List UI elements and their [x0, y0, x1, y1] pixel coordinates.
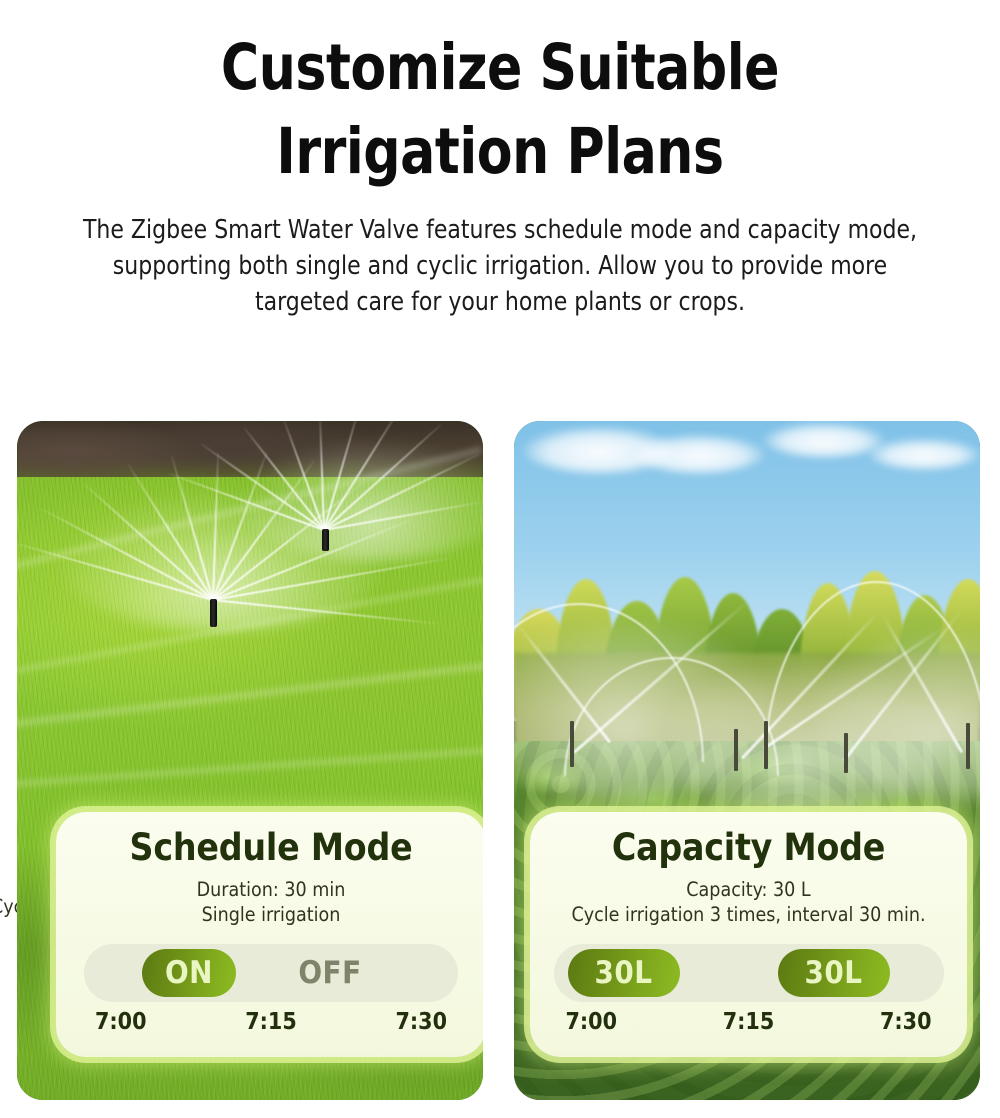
page-subtitle: The Zigbee Smart Water Valve features sc… — [20, 212, 980, 321]
time-label-start: 7:00 — [566, 1009, 617, 1035]
panel-line-2: Single irrigation — [56, 903, 483, 928]
card-schedule-mode[interactable]: Schedule Mode Duration: 30 min Single ir… — [17, 421, 483, 1100]
panel-description: Duration: 30 min Single irrigation — [56, 878, 483, 928]
sprinkler-riser-2 — [734, 729, 738, 771]
panel-schedule-mode: Schedule Mode Duration: 30 min Single ir… — [56, 812, 483, 1057]
panel-line-1: Capacity: 30 L — [530, 878, 967, 903]
panel-capacity-mode: Capacity Mode Capacity: 30 L Cycle irrig… — [530, 812, 967, 1057]
capacity-pill-2[interactable]: 30L — [778, 949, 890, 997]
sprinkler-riser-3 — [764, 721, 768, 769]
time-label-end: 7:30 — [880, 1009, 931, 1035]
cloud-2 — [634, 435, 764, 473]
capacity-time-labels: 7:00 7:15 7:30 — [566, 1009, 932, 1035]
panel-line-1: Duration: 30 min — [56, 878, 483, 903]
mode-cards-row: Schedule Mode Duration: 30 min Single ir… — [0, 421, 1000, 1101]
page-title-line-2: Irrigation Plans — [40, 110, 960, 194]
cloud-3 — [764, 423, 884, 457]
toggle-off-label[interactable]: OFF — [280, 949, 380, 997]
schedule-time-labels: 7:00 7:15 7:30 — [95, 1009, 447, 1035]
page-header: Customize Suitable Irrigation Plans The … — [0, 0, 1000, 320]
capacity-pill-1[interactable]: 30L — [568, 949, 680, 997]
time-label-start: 7:00 — [95, 1009, 146, 1035]
panel-title: Capacity Mode — [530, 826, 967, 869]
time-label-end: 7:30 — [396, 1009, 447, 1035]
sprinkler-riser-5 — [966, 723, 970, 769]
panel-description: Capacity: 30 L Cycle irrigation 3 times,… — [530, 878, 967, 928]
time-label-mid: 7:15 — [723, 1009, 774, 1035]
card-capacity-mode[interactable]: Capacity Mode Capacity: 30 L Cycle irrig… — [514, 421, 980, 1100]
panel-title: Schedule Mode — [56, 826, 483, 869]
cloud-4 — [869, 439, 979, 469]
schedule-timeline-track[interactable]: ON OFF — [84, 944, 458, 1002]
capacity-timeline-track[interactable]: 30L 30L — [554, 944, 944, 1002]
time-label-mid: 7:15 — [245, 1009, 296, 1035]
sprinkler-riser-1 — [570, 721, 574, 767]
sprinkler-riser-4 — [844, 733, 848, 773]
panel-line-2: Cycle irrigation 3 times, interval 30 mi… — [530, 903, 967, 928]
page-title: Customize Suitable Irrigation Plans — [40, 26, 960, 194]
page-title-line-1: Customize Suitable — [40, 26, 960, 110]
toggle-on-pill[interactable]: ON — [142, 949, 236, 997]
